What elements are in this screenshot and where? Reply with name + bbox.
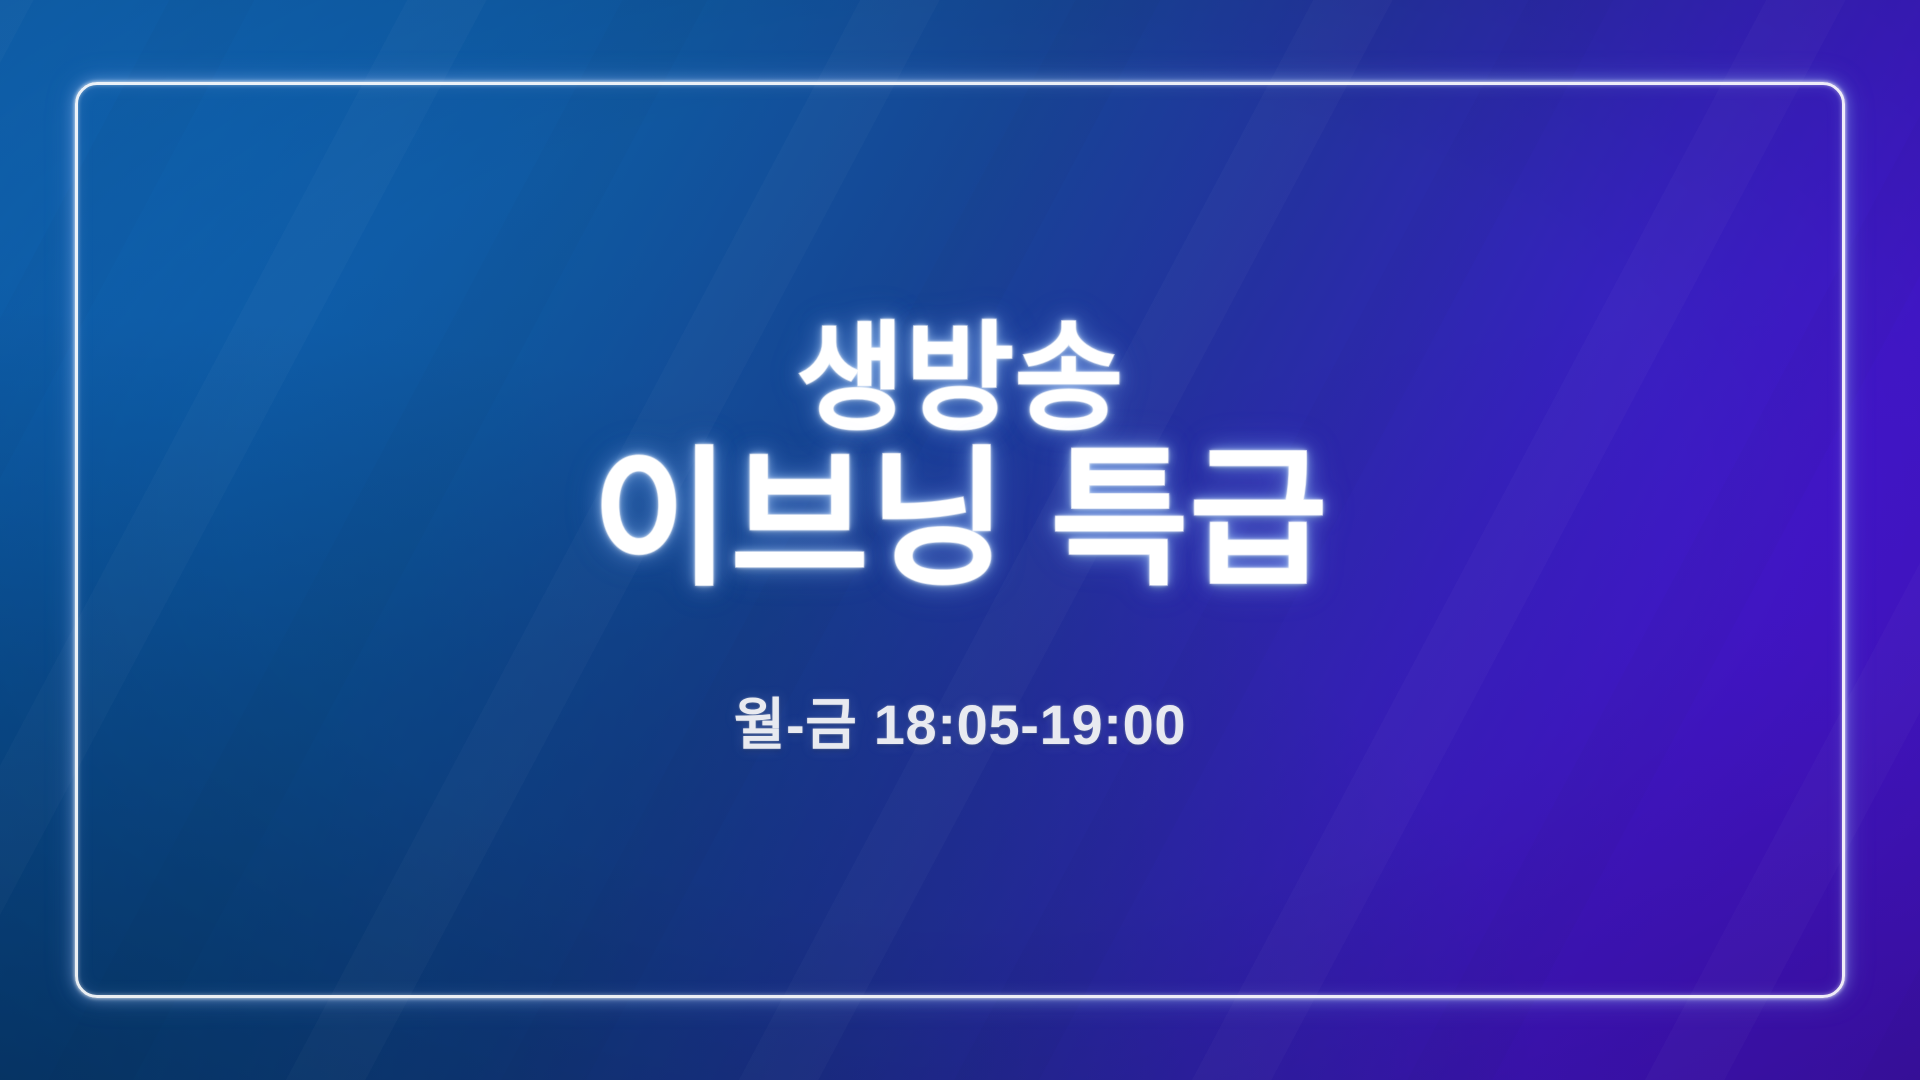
- title-card: 생방송 이브닝 특급 월-금 18:05-19:00: [0, 0, 1920, 1080]
- program-title-line-2: 이브닝 특급: [592, 444, 1328, 594]
- program-title: 생방송 이브닝 특급: [592, 320, 1328, 594]
- program-title-line-1: 생방송: [796, 320, 1123, 438]
- card-content: 생방송 이브닝 특급 월-금 18:05-19:00: [0, 0, 1920, 1080]
- broadcast-schedule: 월-금 18:05-19:00: [734, 680, 1186, 761]
